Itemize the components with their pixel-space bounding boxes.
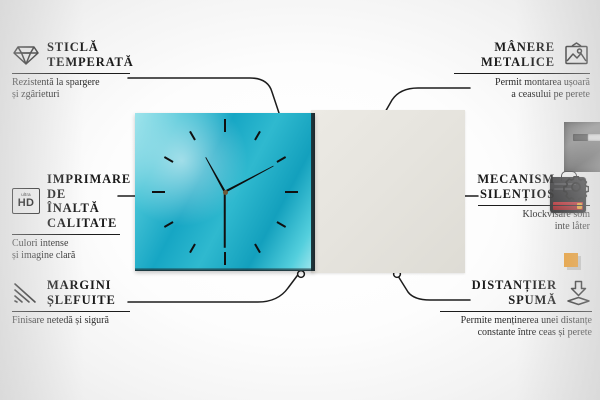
feature-subtitle: Rezistentă la spargere și zgârieturi: [12, 77, 130, 101]
feature-margini-slefuite: MARGINI ȘLEFUITE Finisare netedă și sigu…: [12, 278, 130, 327]
feature-rule: [440, 311, 592, 312]
diamond-icon: [12, 41, 40, 69]
clock-back-panel: [311, 110, 465, 273]
feature-distantier-spuma: DISTANȚIER SPUMĂ Permite menținerea unei…: [440, 278, 592, 339]
hanger-slot: [573, 134, 600, 141]
feature-mecanism-silentios: MECANISM SILENȚIOS Klockvisare som inte …: [478, 172, 590, 233]
feature-subtitle: Permite menținerea unei distanțe constan…: [440, 315, 592, 339]
clock-right-edge: [311, 113, 315, 271]
feature-rule: [12, 73, 130, 74]
product-image: [135, 110, 465, 275]
feature-manere-metalice: MÂNERE METALICE Permit montarea ușoară a…: [454, 40, 590, 101]
clock-minute-hand: [224, 165, 274, 194]
feature-rule: [12, 234, 120, 235]
feature-rule: [454, 73, 590, 74]
feature-subtitle: Culori intense și imagine clară: [12, 238, 120, 262]
picture-frame-hanger-icon: [562, 41, 590, 69]
infographic-canvas: STICLĂ TEMPERATĂ Rezistentă la spargere …: [0, 0, 600, 400]
feature-rule: [478, 205, 590, 206]
clock-center-pin: [223, 190, 228, 195]
connector-margini: [128, 272, 300, 302]
metal-hanger-part: [564, 122, 600, 172]
feature-title: MARGINI ȘLEFUITE: [47, 278, 116, 307]
feature-imprimare-calitate: ultra HD IMPRIMARE DE ÎNALTĂ CALITATE Cu…: [12, 172, 120, 262]
feature-title: DISTANȚIER SPUMĂ: [472, 278, 557, 307]
clock-front-face: [135, 113, 315, 271]
clock-hour-hand: [204, 156, 227, 193]
feature-subtitle: Finisare netedă și sigură: [12, 315, 130, 327]
gear-icon: [562, 173, 590, 201]
foam-spacer-part: [564, 253, 578, 267]
feature-title: MÂNERE METALICE: [481, 40, 555, 69]
feature-title: MECANISM SILENȚIOS: [477, 172, 555, 201]
clock-dial: [135, 113, 315, 271]
feature-sticla-temperata: STICLĂ TEMPERATĂ Rezistentă la spargere …: [12, 40, 130, 101]
ultra-hd-large-text: HD: [18, 198, 35, 209]
feature-subtitle: Klockvisare som inte låter: [478, 209, 590, 233]
clock-second-hand: [224, 192, 226, 248]
polished-edge-icon: [12, 279, 40, 307]
feature-subtitle: Permit montarea ușoară a ceasului pe per…: [454, 77, 590, 101]
clock-bottom-edge: [135, 268, 315, 271]
ultra-hd-icon: ultra HD: [12, 187, 40, 215]
feature-title: IMPRIMARE DE ÎNALTĂ CALITATE: [47, 172, 131, 230]
feature-title: STICLĂ TEMPERATĂ: [47, 40, 134, 69]
down-arrow-pad-icon: [564, 279, 592, 307]
feature-rule: [12, 311, 130, 312]
